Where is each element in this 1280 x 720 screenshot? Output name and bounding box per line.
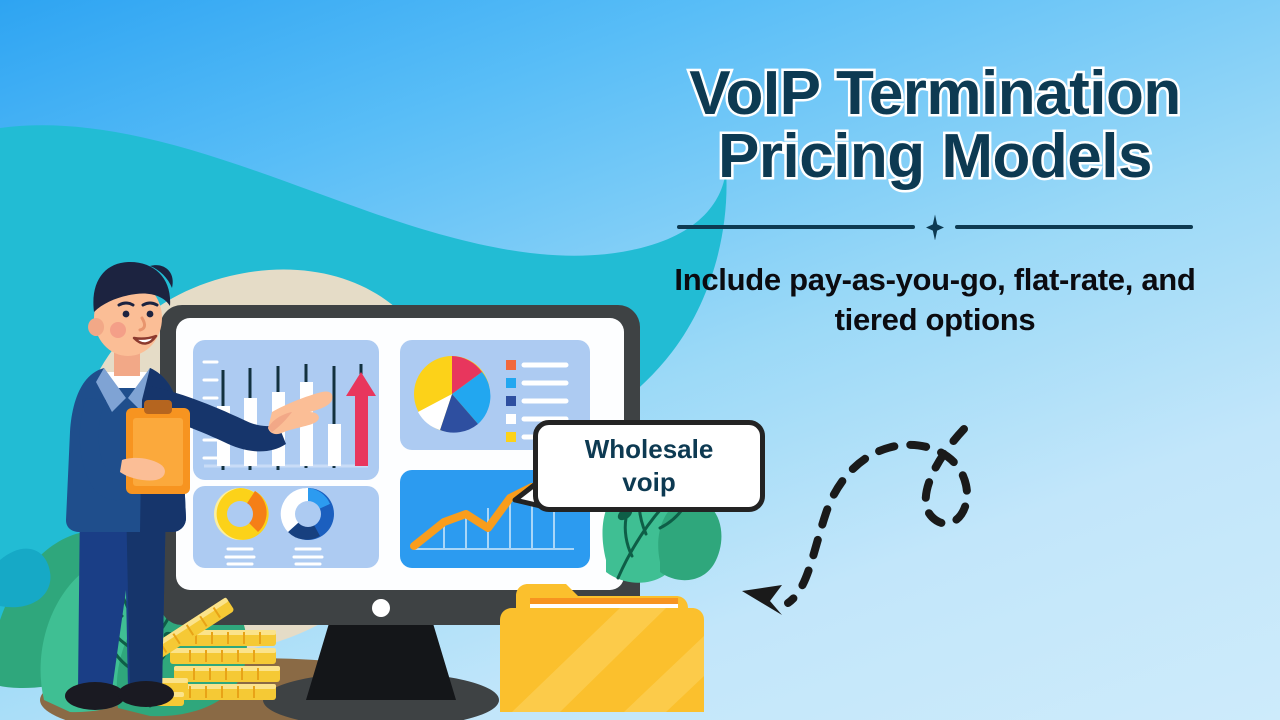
eye-left bbox=[123, 311, 130, 318]
speech-bubble-line-2: voip bbox=[622, 467, 675, 497]
pie-chart bbox=[414, 356, 490, 433]
shoe-back bbox=[118, 681, 174, 707]
speech-bubble-text: Wholesale voip bbox=[585, 433, 714, 500]
folder-paper-edge bbox=[530, 598, 678, 604]
chart-panel-donuts bbox=[193, 486, 379, 568]
donut-right-chart bbox=[281, 488, 334, 540]
monitor-camera-dot bbox=[372, 599, 390, 617]
speech-bubble: Wholesale voip bbox=[533, 420, 765, 512]
cheek-blush bbox=[110, 322, 126, 338]
eye-right bbox=[147, 311, 154, 318]
dashboard-illustration bbox=[0, 0, 1280, 720]
file-folder-icon bbox=[500, 584, 704, 712]
donut-left-chart bbox=[214, 488, 269, 540]
ear bbox=[88, 318, 104, 336]
curved-dashed-arrow-icon bbox=[726, 421, 986, 621]
shoe-front bbox=[65, 682, 125, 710]
clipboard-icon bbox=[126, 400, 190, 494]
speech-bubble-line-1: Wholesale bbox=[585, 434, 714, 464]
banner-canvas: Wholesale voip VoIP Termination Pricing … bbox=[0, 0, 1280, 720]
monitor-stand bbox=[306, 620, 456, 700]
